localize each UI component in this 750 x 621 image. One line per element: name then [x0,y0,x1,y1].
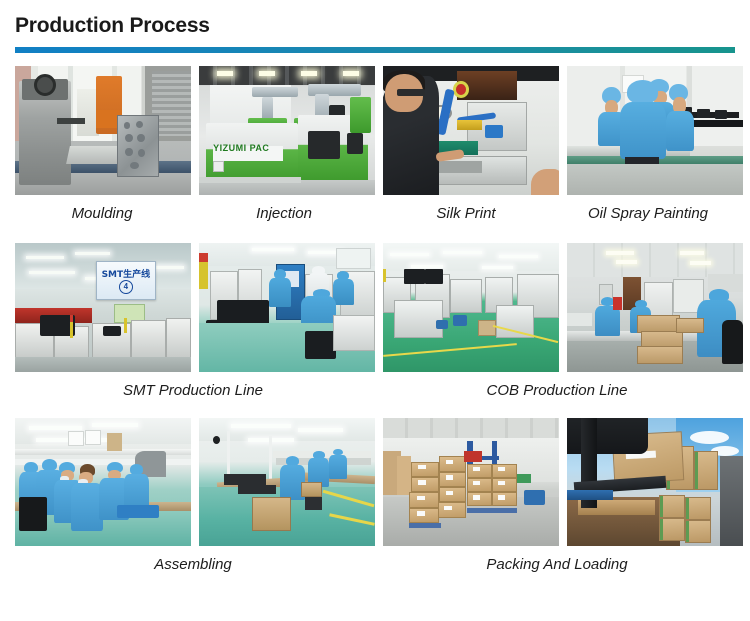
photo-assembling-benches [199,418,375,546]
process-cell-silk-print [383,66,559,195]
photo-silk-print [383,66,559,195]
caption-row-2: SMT Production Line COB Production Line [15,381,735,401]
photo-smt-line-sign: SMT生产线 4 [15,243,191,372]
process-cell-cob-1 [383,243,559,372]
process-cell-assembling-2 [199,418,375,546]
process-cell-oil-spray-painting [567,66,743,195]
photo-packing-warehouse [383,418,559,546]
process-cell-smt-1: SMT生产线 4 [15,243,191,372]
caption-smt-production-line: SMT Production Line [15,381,371,401]
caption-packing-and-loading: Packing And Loading [379,555,735,575]
process-cell-moulding [15,66,191,195]
process-row-3 [15,418,735,546]
caption-moulding: Moulding [15,204,189,224]
process-cell-injection: YIZUMI PAC [199,66,375,195]
process-row-1: YIZUMI PAC [15,66,735,195]
caption-cob-production-line: COB Production Line [379,381,735,401]
photo-moulding [15,66,191,195]
smt-sign-number: 4 [119,280,133,294]
photo-cob-line-machines [383,243,559,372]
smt-sign-chinese-text: SMT生产线 [97,267,155,280]
process-row-2: SMT生产线 4 [15,243,735,372]
section-header: Production Process [15,0,735,53]
caption-row-3: Assembling Packing And Loading [15,555,735,575]
caption-row-1: Moulding Injection Silk Print Oil Spray … [15,204,735,224]
process-cell-loading [567,418,743,546]
caption-injection: Injection [197,204,371,224]
caption-silk-print: Silk Print [379,204,553,224]
caption-assembling: Assembling [15,555,371,575]
process-cell-smt-2 [199,243,375,372]
photo-loading-container [567,418,743,546]
photo-smt-line-operators [199,243,375,372]
caption-oil-spray-painting: Oil Spray Painting [561,204,735,224]
process-cell-packing [383,418,559,546]
process-cell-cob-2 [567,243,743,372]
page-title: Production Process [15,12,735,40]
process-cell-assembling-1 [15,418,191,546]
title-underline-rule [15,47,735,53]
photo-injection: YIZUMI PAC [199,66,375,195]
photo-cob-microscope-station [567,243,743,372]
photo-oil-spray-painting [567,66,743,195]
photo-assembling-workers [15,418,191,546]
production-process-page: Production Process [0,0,750,621]
